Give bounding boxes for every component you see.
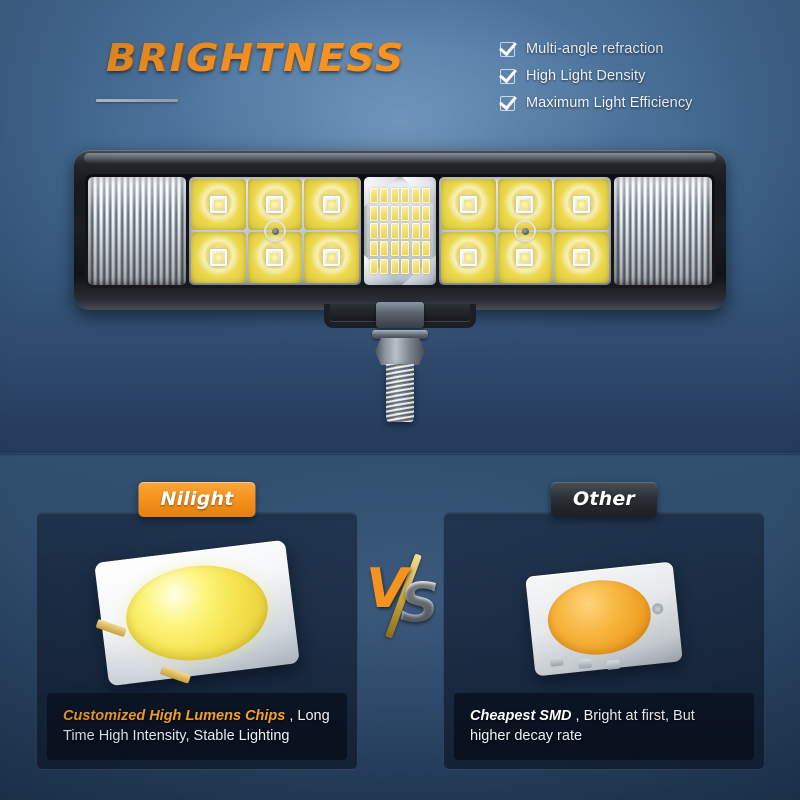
smd-chip-grid bbox=[370, 188, 430, 274]
feature-item: High Light Density bbox=[500, 68, 750, 84]
badge-other: Other bbox=[551, 482, 657, 517]
comparison-panel-other: Other Cheapest SMD , Bright at first, Bu… bbox=[443, 512, 765, 770]
bracket-threaded-bolt bbox=[386, 364, 414, 422]
feature-item: Multi-angle refraction bbox=[500, 41, 750, 57]
chip-pad bbox=[550, 657, 564, 667]
housing-screw-icon bbox=[516, 222, 534, 240]
feature-label: Multi-angle refraction bbox=[526, 41, 664, 57]
feature-item: Maximum Light Efficiency bbox=[500, 95, 750, 111]
reflector-cell bbox=[554, 179, 609, 230]
badge-nilight: Nilight bbox=[138, 482, 255, 517]
led-chip-nilight bbox=[94, 540, 300, 686]
reflector-cell bbox=[191, 232, 246, 283]
versus-graphic: V S bbox=[366, 556, 440, 636]
reflector-cell bbox=[191, 179, 246, 230]
checkbox-checked-icon bbox=[500, 96, 515, 111]
caption-other: Cheapest SMD , Bright at first, But high… bbox=[454, 693, 754, 760]
chip-stage-right bbox=[444, 535, 764, 683]
bracket-hex-nut bbox=[375, 338, 425, 365]
feature-label: Maximum Light Efficiency bbox=[526, 95, 693, 111]
reflector-cell bbox=[554, 232, 609, 283]
housing-screw-icon bbox=[266, 222, 284, 240]
title-underline bbox=[96, 99, 178, 102]
reflector-cell bbox=[304, 179, 359, 230]
product-feature-image: BRIGHTNESS Multi-angle refraction High L… bbox=[0, 0, 800, 800]
ribbed-side-lens-right bbox=[614, 177, 712, 285]
bracket-washer bbox=[372, 330, 428, 339]
caption-nilight: Customized High Lumens Chips , Long Time… bbox=[47, 693, 347, 760]
feature-label: High Light Density bbox=[526, 68, 645, 84]
caption-highlight: Cheapest SMD bbox=[470, 708, 572, 724]
versus-letter-s: S bbox=[400, 576, 439, 630]
chip-pad bbox=[606, 660, 620, 670]
comparison-panel-nilight: Nilight Customized High Lumens Chips , L… bbox=[36, 512, 358, 770]
chip-stage-left bbox=[37, 535, 357, 683]
page-title: BRIGHTNESS bbox=[106, 36, 405, 80]
bracket-plate bbox=[376, 302, 424, 328]
led-reflector-cluster-left bbox=[189, 177, 361, 285]
chip-pad bbox=[578, 659, 592, 669]
led-light-bar bbox=[74, 150, 726, 310]
light-bar-lens-face bbox=[85, 174, 715, 288]
reflector-cell bbox=[441, 232, 496, 283]
checkbox-checked-icon bbox=[500, 69, 515, 84]
reflector-cell bbox=[304, 232, 359, 283]
mounting-bracket bbox=[310, 304, 490, 434]
led-reflector-cluster-right bbox=[439, 177, 611, 285]
light-bar-housing bbox=[74, 150, 726, 310]
housing-highlight bbox=[84, 153, 716, 163]
feature-list: Multi-angle refraction High Light Densit… bbox=[500, 41, 750, 122]
checkbox-checked-icon bbox=[500, 42, 515, 57]
smd-flood-panel bbox=[364, 177, 436, 285]
ribbed-side-lens-left bbox=[88, 177, 186, 285]
caption-highlight: Customized High Lumens Chips bbox=[63, 708, 285, 724]
background-divider bbox=[0, 453, 800, 456]
reflector-cell bbox=[441, 179, 496, 230]
led-chip-other bbox=[525, 562, 683, 677]
